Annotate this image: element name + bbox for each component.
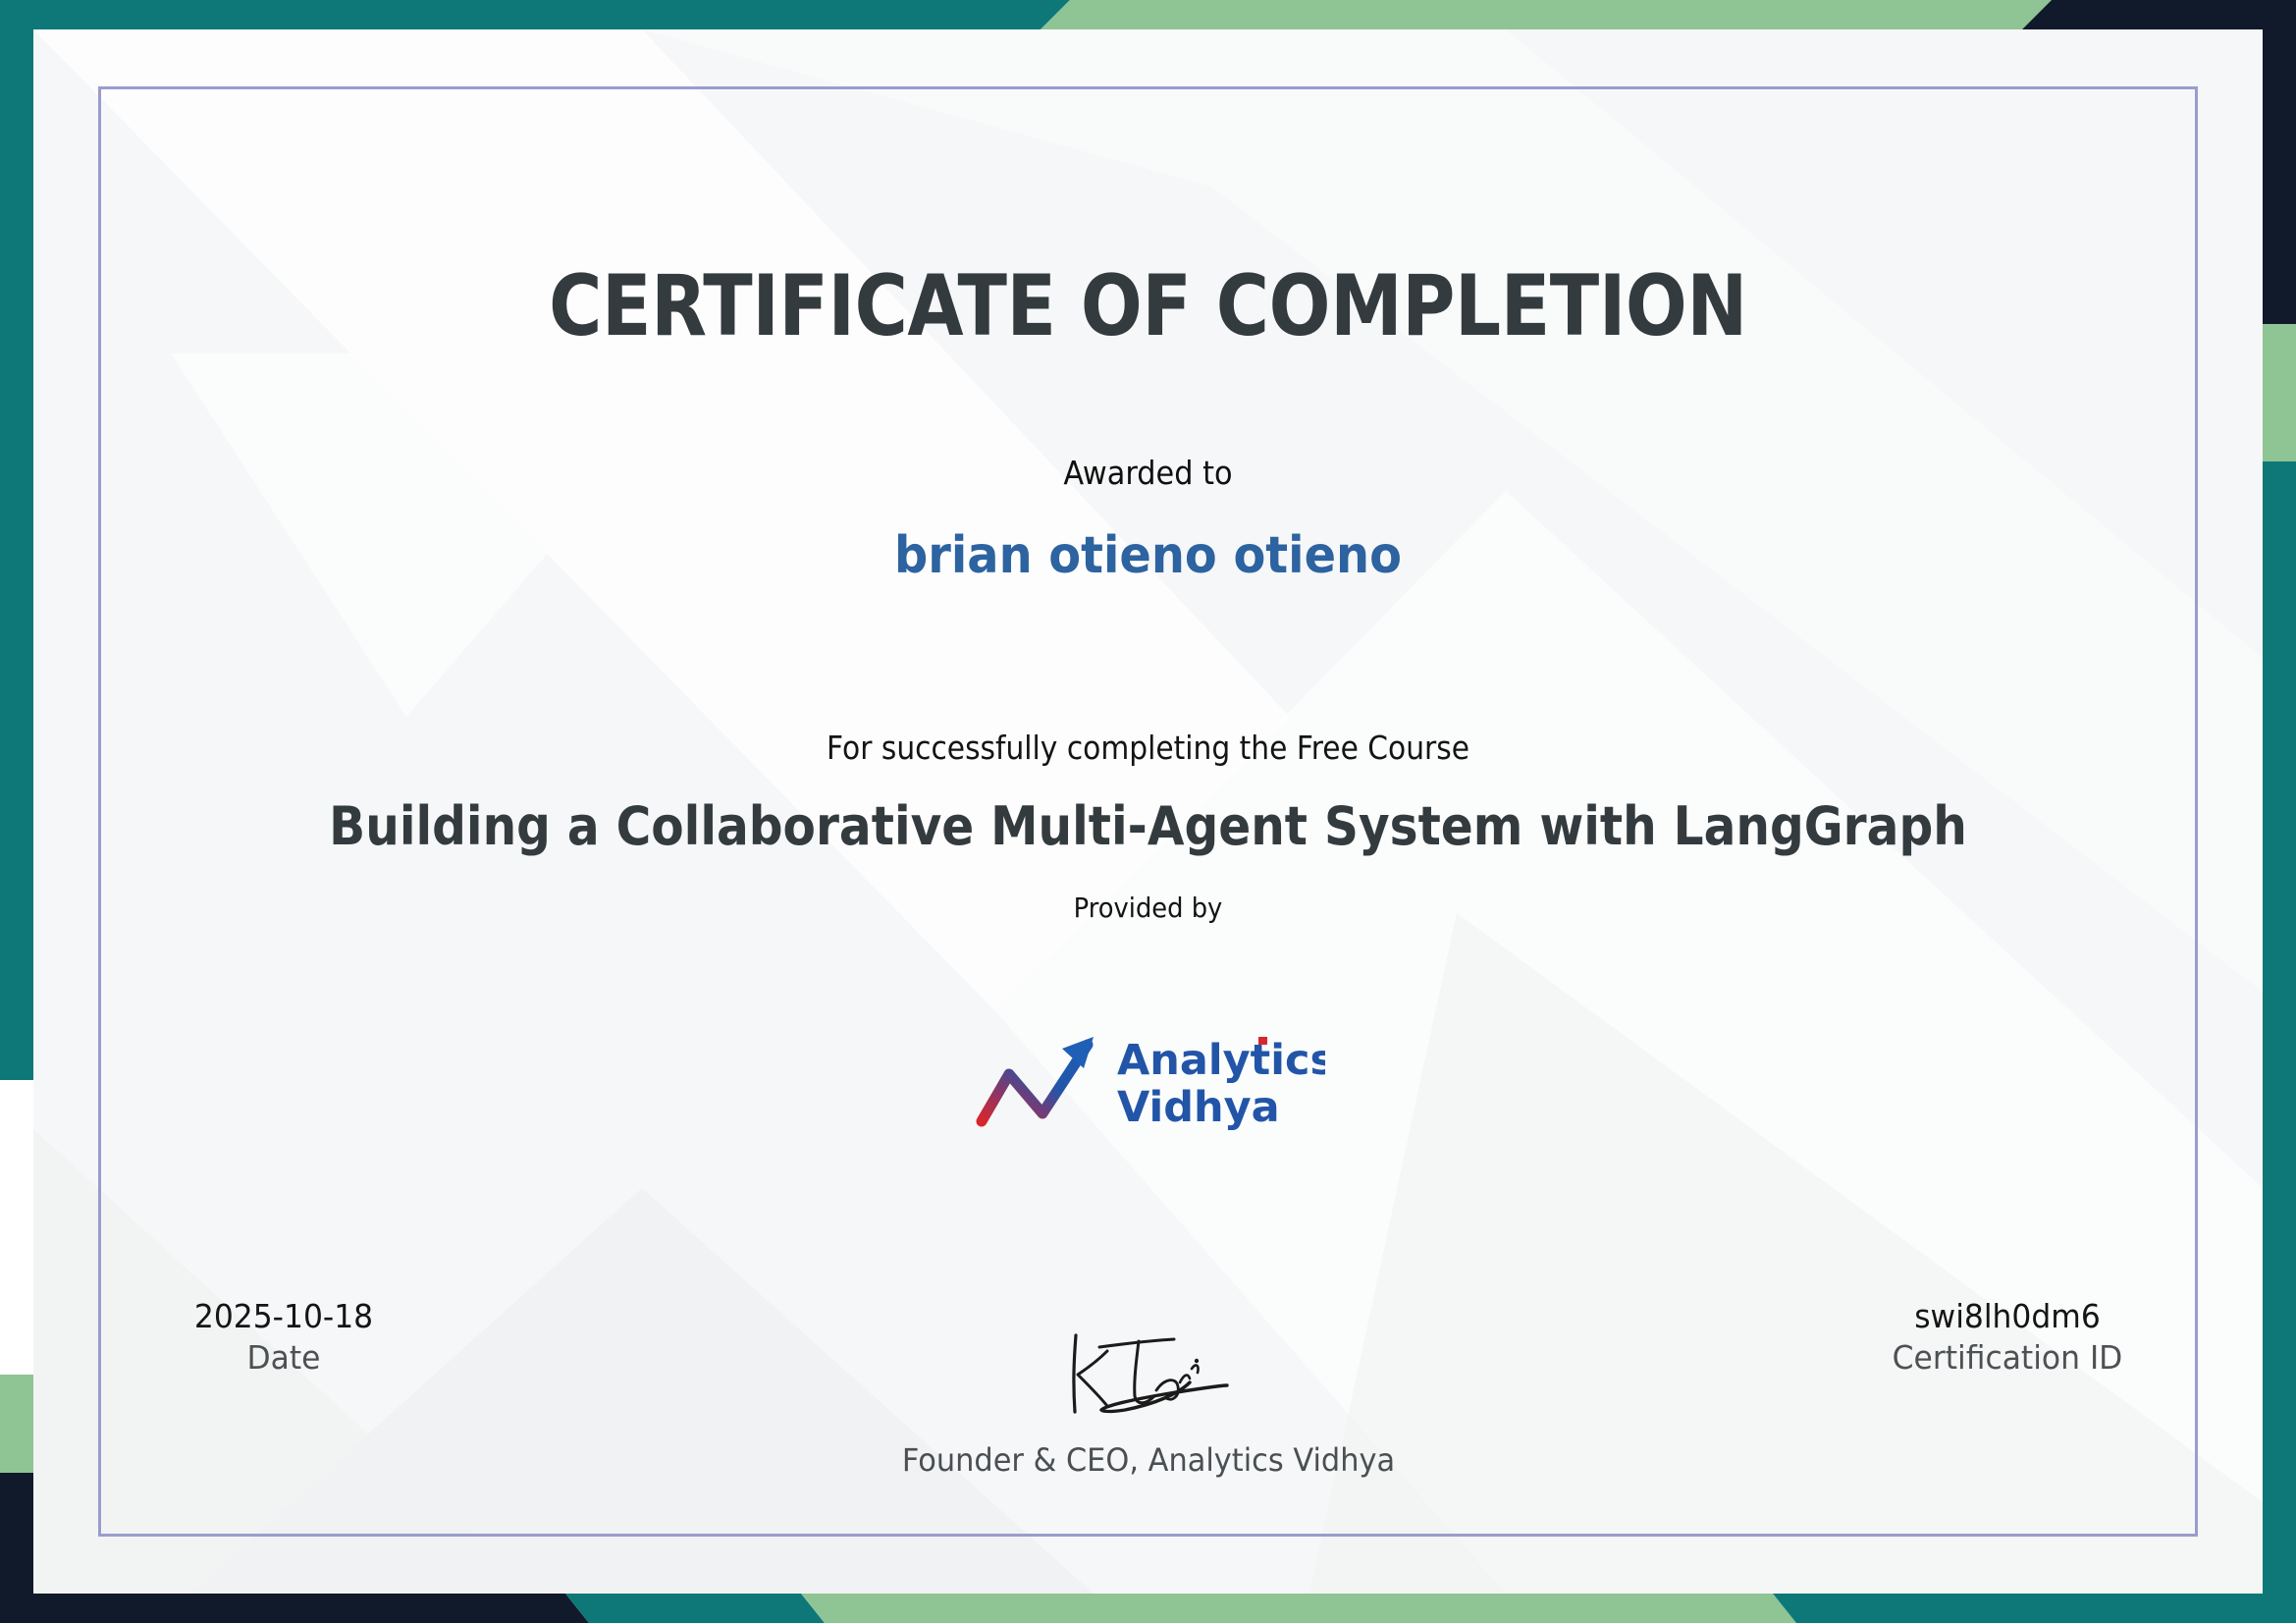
recipient-name: brian otieno otieno bbox=[123, 526, 2173, 585]
certificate-page: CERTIFICATE OF COMPLETION Awarded to bri… bbox=[0, 0, 2296, 1623]
logo-word-analytics: Analytics bbox=[1117, 1036, 1325, 1085]
signature-caption: Founder & CEO, Analytics Vidhya bbox=[850, 1441, 1447, 1479]
provider-logo: Analytics Vidhya bbox=[972, 1023, 1325, 1141]
signature-block: Founder & CEO, Analytics Vidhya bbox=[834, 1322, 1463, 1479]
date-block: 2025-10-18 Date bbox=[156, 1296, 411, 1407]
certification-id-value: swi8lh0dm6 bbox=[1868, 1296, 2148, 1337]
logo-word-vidhya: Vidhya bbox=[1117, 1083, 1280, 1132]
date-value: 2025-10-18 bbox=[163, 1296, 405, 1337]
awarded-to-label: Awarded to bbox=[123, 454, 2173, 492]
course-name: Building a Collaborative Multi-Agent Sys… bbox=[145, 795, 2152, 857]
date-label: Date bbox=[163, 1337, 405, 1379]
certification-id-label: Certification ID bbox=[1868, 1337, 2148, 1379]
growth-arrow-icon bbox=[982, 1037, 1094, 1121]
certification-id-block: swi8lh0dm6 Certification ID bbox=[1860, 1296, 2155, 1407]
signature-mark bbox=[982, 1322, 1315, 1439]
certificate-content: CERTIFICATE OF COMPLETION Awarded to bri… bbox=[33, 29, 2263, 1594]
completion-statement: For successfully completing the Free Cou… bbox=[145, 729, 2152, 767]
logo-red-dot bbox=[1258, 1037, 1267, 1045]
page-title: CERTIFICATE OF COMPLETION bbox=[189, 257, 2107, 355]
provided-by-label: Provided by bbox=[123, 892, 2173, 924]
certificate-paper: CERTIFICATE OF COMPLETION Awarded to bri… bbox=[33, 29, 2263, 1594]
